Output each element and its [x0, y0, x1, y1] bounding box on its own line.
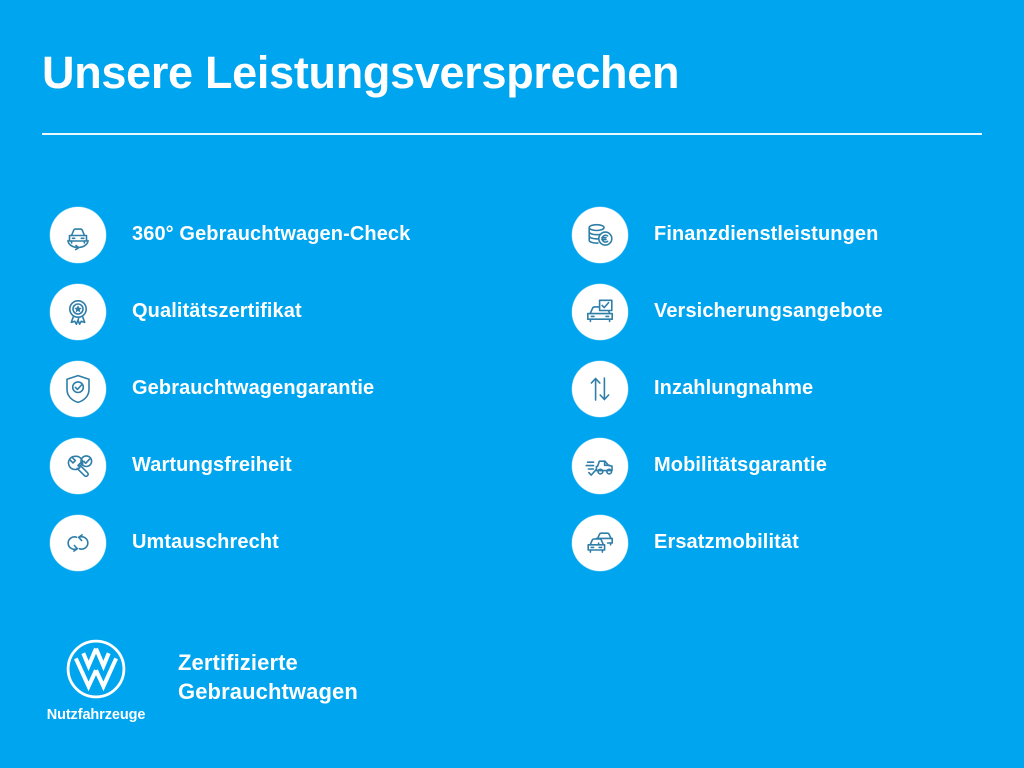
- promise-item-wartungsfreiheit[interactable]: Wartungsfreiheit: [50, 427, 560, 504]
- promise-label: Versicherungsangebote: [654, 300, 883, 323]
- title-divider: [42, 133, 982, 135]
- shield-check-icon: [50, 361, 106, 417]
- promise-label: Mobilitätsgarantie: [654, 454, 827, 477]
- wrench-check-icon: [50, 438, 106, 494]
- car-360-check-icon: [50, 207, 106, 263]
- page-title: Unsere Leistungsversprechen: [42, 48, 982, 98]
- exchange-arrows-icon: [50, 515, 106, 571]
- promises-right-column: Finanzdienstleistungen Versicherungsange…: [572, 196, 1012, 581]
- car-motion-check-icon: [572, 438, 628, 494]
- promise-item-gebrauchtwagengarantie[interactable]: Gebrauchtwagengarantie: [50, 350, 560, 427]
- vw-brand-block: Nutzfahrzeuge: [42, 638, 150, 723]
- vw-subbrand-label: Nutzfahrzeuge: [47, 707, 146, 723]
- promise-label: Gebrauchtwagengarantie: [132, 377, 374, 400]
- promise-item-qualitaetszertifikat[interactable]: Qualitätszertifikat: [50, 273, 560, 350]
- promise-label: Umtauschrecht: [132, 531, 279, 554]
- header: Unsere Leistungsversprechen: [42, 48, 982, 98]
- promise-item-finanzdienstleistungen[interactable]: Finanzdienstleistungen: [572, 196, 1012, 273]
- two-cars-icon: [572, 515, 628, 571]
- arrows-up-down-icon: [572, 361, 628, 417]
- promise-item-versicherungsangebote[interactable]: Versicherungsangebote: [572, 273, 1012, 350]
- promise-label: Ersatzmobilität: [654, 531, 799, 554]
- promise-item-ersatzmobilitaet[interactable]: Ersatzmobilität: [572, 504, 1012, 581]
- award-rosette-icon: [50, 284, 106, 340]
- promise-label: Finanzdienstleistungen: [654, 223, 878, 246]
- promise-label: Wartungsfreiheit: [132, 454, 292, 477]
- promises-left-column: 360° Gebrauchtwagen-Check Qualitätszerti…: [50, 196, 560, 581]
- slide-root: Unsere Leistungsversprechen 360° Gebrauc: [0, 0, 1024, 768]
- footer-claim-line1: Zertifizierte: [178, 648, 358, 677]
- coins-euro-icon: [572, 207, 628, 263]
- car-document-check-icon: [572, 284, 628, 340]
- footer-claim-line2: Gebrauchtwagen: [178, 677, 358, 706]
- footer-brand: Nutzfahrzeuge Zertifizierte Gebrauchtwag…: [42, 638, 358, 723]
- volkswagen-roundel-logo: [65, 638, 127, 700]
- promise-label: Qualitätszertifikat: [132, 300, 302, 323]
- promise-item-umtauschrecht[interactable]: Umtauschrecht: [50, 504, 560, 581]
- promise-label: 360° Gebrauchtwagen-Check: [132, 223, 410, 246]
- promise-item-gebrauchtwagen-check[interactable]: 360° Gebrauchtwagen-Check: [50, 196, 560, 273]
- promise-item-mobilitaetsgarantie[interactable]: Mobilitätsgarantie: [572, 427, 1012, 504]
- footer-claim: Zertifizierte Gebrauchtwagen: [178, 648, 358, 706]
- promise-label: Inzahlungnahme: [654, 377, 813, 400]
- promises-section: 360° Gebrauchtwagen-Check Qualitätszerti…: [0, 196, 1024, 581]
- promise-item-inzahlungnahme[interactable]: Inzahlungnahme: [572, 350, 1012, 427]
